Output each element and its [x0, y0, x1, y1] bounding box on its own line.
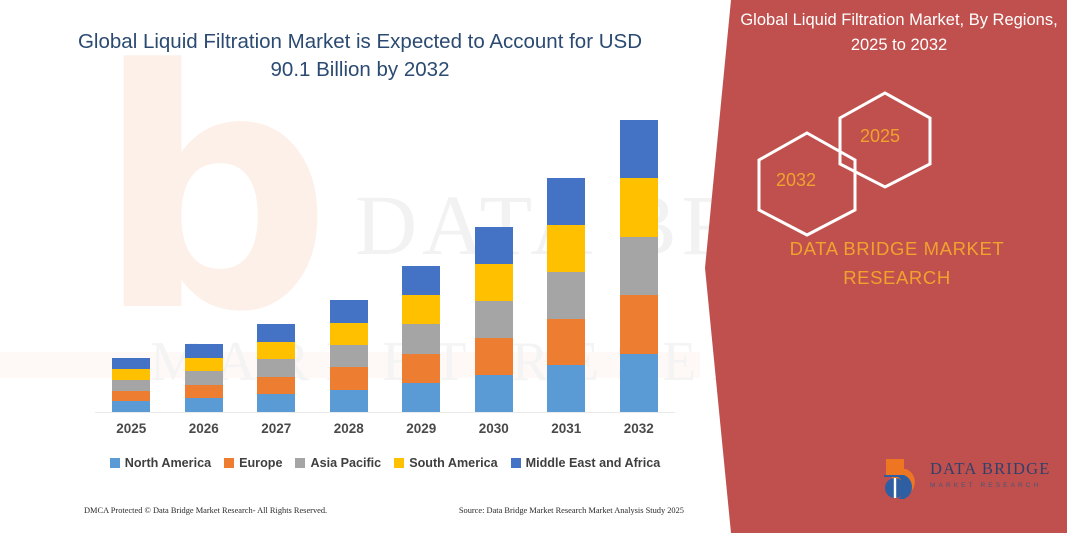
bar-segment: [257, 394, 295, 412]
bar-segment: [547, 272, 585, 319]
bar-segment: [547, 225, 585, 272]
hexagon-badges: 2025 2032: [712, 88, 1067, 198]
bar-segment: [330, 345, 368, 367]
legend-label: South America: [409, 456, 497, 470]
legend-item[interactable]: Europe: [224, 456, 282, 470]
legend-item[interactable]: North America: [110, 456, 211, 470]
bar-segment: [257, 359, 295, 377]
footer-copyright: DMCA Protected © Data Bridge Market Rese…: [84, 506, 327, 515]
bar-segment: [185, 398, 223, 412]
bar-segment: [330, 367, 368, 389]
x-axis-label: 2028: [314, 421, 384, 436]
stacked-bar-chart: [95, 120, 675, 412]
bar-segment: [402, 324, 440, 353]
bar-segment: [185, 385, 223, 399]
x-axis-label: 2030: [459, 421, 529, 436]
legend-item[interactable]: Asia Pacific: [295, 456, 381, 470]
bar-segment: [330, 390, 368, 412]
bar-column: [475, 227, 513, 412]
bar-segment: [475, 375, 513, 412]
bar-segment: [475, 301, 513, 338]
x-axis-label: 2029: [386, 421, 456, 436]
hexagon-2032-icon: [748, 128, 866, 240]
bar-segment: [330, 300, 368, 322]
bar-segment: [475, 338, 513, 375]
panel-brand-line2: RESEARCH: [843, 267, 951, 288]
bar-segment: [112, 401, 150, 412]
bar-segment: [547, 319, 585, 366]
infographic-canvas: b DATA BRIDGE MARKET RESEARCH Global Liq…: [0, 0, 1067, 533]
bar-segment: [475, 264, 513, 301]
bar-segment: [620, 295, 658, 353]
bar-segment: [257, 342, 295, 360]
legend-label: North America: [125, 456, 211, 470]
company-logo: DATA BRIDGE MARKET RESEARCH: [882, 455, 1067, 507]
bar-segment: [185, 344, 223, 358]
bar-segment: [402, 383, 440, 412]
bar-segment: [185, 371, 223, 385]
logo-bridge-icon: [882, 455, 928, 501]
legend-swatch-icon: [511, 458, 521, 468]
bar-segment: [330, 323, 368, 345]
legend-label: Middle East and Africa: [526, 456, 661, 470]
hexagon-label-2032: 2032: [776, 170, 816, 191]
bar-column: [185, 344, 223, 412]
bar-column: [620, 120, 658, 412]
legend-label: Asia Pacific: [310, 456, 381, 470]
x-axis-label: 2026: [169, 421, 239, 436]
bar-column: [112, 358, 150, 412]
x-axis-labels: 20252026202720282029203020312032: [95, 421, 675, 443]
bar-column: [402, 266, 440, 412]
legend-swatch-icon: [394, 458, 404, 468]
panel-brand: DATA BRIDGE MARKET RESEARCH: [732, 234, 1062, 292]
bar-segment: [620, 120, 658, 178]
bar-segment: [547, 178, 585, 225]
bar-segment: [112, 391, 150, 402]
bar-column: [330, 300, 368, 412]
bar-segment: [112, 380, 150, 391]
bar-segment: [620, 354, 658, 412]
x-axis-label: 2027: [241, 421, 311, 436]
bar-segment: [547, 365, 585, 412]
hexagon-2025-icon: [830, 88, 940, 192]
panel-title: Global Liquid Filtration Market, By Regi…: [740, 8, 1058, 58]
logo-title: DATA BRIDGE: [930, 459, 1051, 479]
bar-segment: [402, 295, 440, 324]
x-axis-label: 2025: [96, 421, 166, 436]
bar-column: [257, 324, 295, 412]
bar-segment: [185, 358, 223, 372]
legend-label: Europe: [239, 456, 282, 470]
legend-swatch-icon: [295, 458, 305, 468]
x-axis-label: 2031: [531, 421, 601, 436]
bar-segment: [257, 324, 295, 342]
footer-source: Source: Data Bridge Market Research Mark…: [459, 506, 684, 515]
bar-segment: [112, 358, 150, 369]
bar-segment: [112, 369, 150, 380]
bar-segment: [620, 237, 658, 295]
legend-item[interactable]: Middle East and Africa: [511, 456, 661, 470]
legend-swatch-icon: [224, 458, 234, 468]
bar-segment: [620, 178, 658, 236]
footer: DMCA Protected © Data Bridge Market Rese…: [84, 506, 684, 515]
legend-item[interactable]: South America: [394, 456, 497, 470]
bar-segment: [257, 377, 295, 395]
bar-column: [547, 178, 585, 412]
legend-swatch-icon: [110, 458, 120, 468]
logo-text: DATA BRIDGE MARKET RESEARCH: [930, 459, 1051, 489]
bar-segment: [402, 354, 440, 383]
logo-subtitle: MARKET RESEARCH: [930, 482, 1051, 489]
x-axis-label: 2032: [604, 421, 674, 436]
bar-segment: [475, 227, 513, 264]
page-title: Global Liquid Filtration Market is Expec…: [60, 28, 660, 84]
chart-legend: North AmericaEuropeAsia PacificSouth Ame…: [95, 456, 675, 470]
hexagon-label-2025: 2025: [860, 126, 900, 147]
x-axis-line: [95, 412, 675, 413]
bar-segment: [402, 266, 440, 295]
panel-brand-line1: DATA BRIDGE MARKET: [790, 238, 1005, 259]
